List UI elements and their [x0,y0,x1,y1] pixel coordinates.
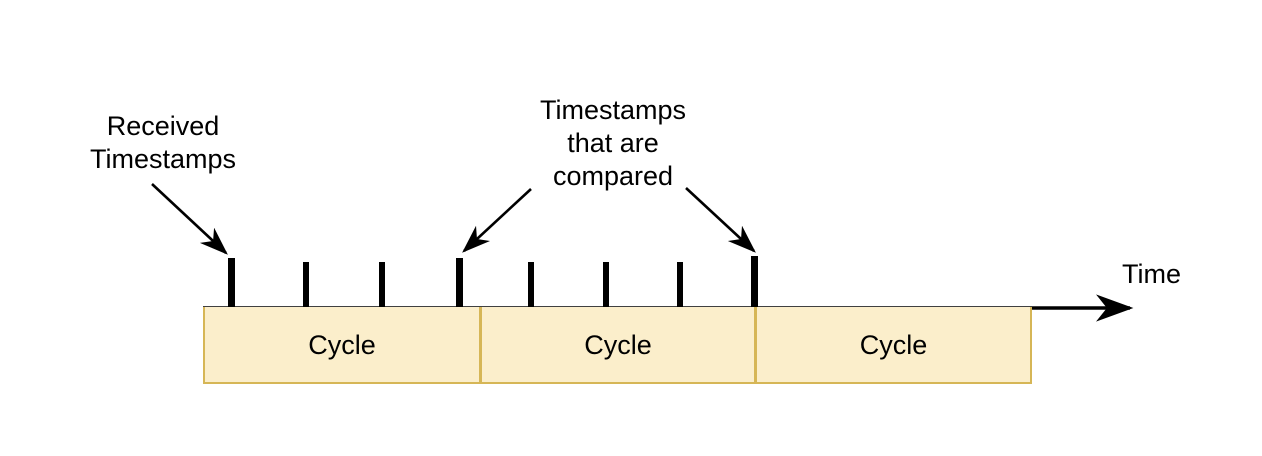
timestamp-tick [379,262,385,308]
cycle-label: Cycle [308,330,376,361]
cycle-box: Cycle [480,307,756,384]
cycle-box: Cycle [755,307,1032,384]
timestamp-tick [228,258,235,308]
annotation-received-timestamps: Received Timestamps [68,110,258,176]
diagram-vector-layer [0,0,1262,456]
arrow-received-timestamps [152,184,226,253]
arrow-compared-left [464,189,531,251]
annotation-timestamps-compared: Timestamps that are compared [508,94,718,193]
timestamp-tick [456,258,463,308]
timestamp-tick [528,262,534,308]
cycle-label: Cycle [584,330,652,361]
arrow-compared-right [686,188,754,251]
timeline-diagram: Cycle Cycle Cycle Received Timestamps Ti… [0,0,1262,456]
cycle-label: Cycle [860,330,928,361]
timestamp-tick [303,262,309,308]
timestamp-tick [751,256,758,308]
timestamp-tick [603,262,609,308]
timestamp-tick [677,262,683,308]
cycle-box: Cycle [203,307,481,384]
time-axis-label: Time [1122,258,1181,291]
